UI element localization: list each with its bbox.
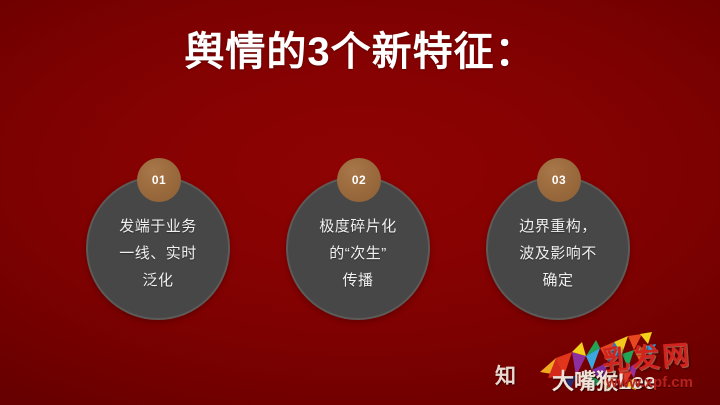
feature-circle-group: 发端于业务 一线、实时 泛化 01 极度碎片化 的“次生” 传播 02 — [0, 176, 720, 326]
watermark-left-text: 知 — [495, 360, 517, 390]
feature-line: 发端于业务 — [99, 213, 217, 240]
watermark-red-text: 乳发网 — [601, 333, 694, 378]
feature-badge-3: 03 — [537, 158, 581, 202]
feature-line: 波及影响不 — [499, 240, 617, 267]
feature-text-2: 极度碎片化 的“次生” 传播 — [299, 203, 417, 294]
feature-line: 的“次生” — [299, 240, 417, 267]
watermark-url: www.xpf.cm — [606, 374, 693, 391]
page-title: 舆情的3个新特征： — [0, 26, 720, 78]
watermark: 知 大嘴猴Lee 乳发网 www.xpf.cm — [490, 330, 720, 405]
feature-text-3: 边界重构， 波及影响不 确定 — [499, 203, 617, 294]
feature-line: 传播 — [299, 267, 417, 294]
feature-node-1[interactable]: 发端于业务 一线、实时 泛化 01 — [86, 176, 234, 324]
feature-line: 泛化 — [99, 267, 217, 294]
feature-badge-2: 02 — [337, 158, 381, 202]
slide-canvas: 舆情的3个新特征： 发端于业务 一线、实时 泛化 01 极度碎片化 的“次生” … — [0, 0, 720, 405]
feature-line: 一线、实时 — [99, 240, 217, 267]
feature-line: 极度碎片化 — [299, 213, 417, 240]
feature-line: 边界重构， — [499, 213, 617, 240]
feature-text-1: 发端于业务 一线、实时 泛化 — [99, 203, 217, 294]
feature-node-2[interactable]: 极度碎片化 的“次生” 传播 02 — [286, 176, 434, 324]
feature-node-3[interactable]: 边界重构， 波及影响不 确定 03 — [486, 176, 634, 324]
feature-badge-1: 01 — [137, 158, 181, 202]
feature-line: 确定 — [499, 267, 617, 294]
